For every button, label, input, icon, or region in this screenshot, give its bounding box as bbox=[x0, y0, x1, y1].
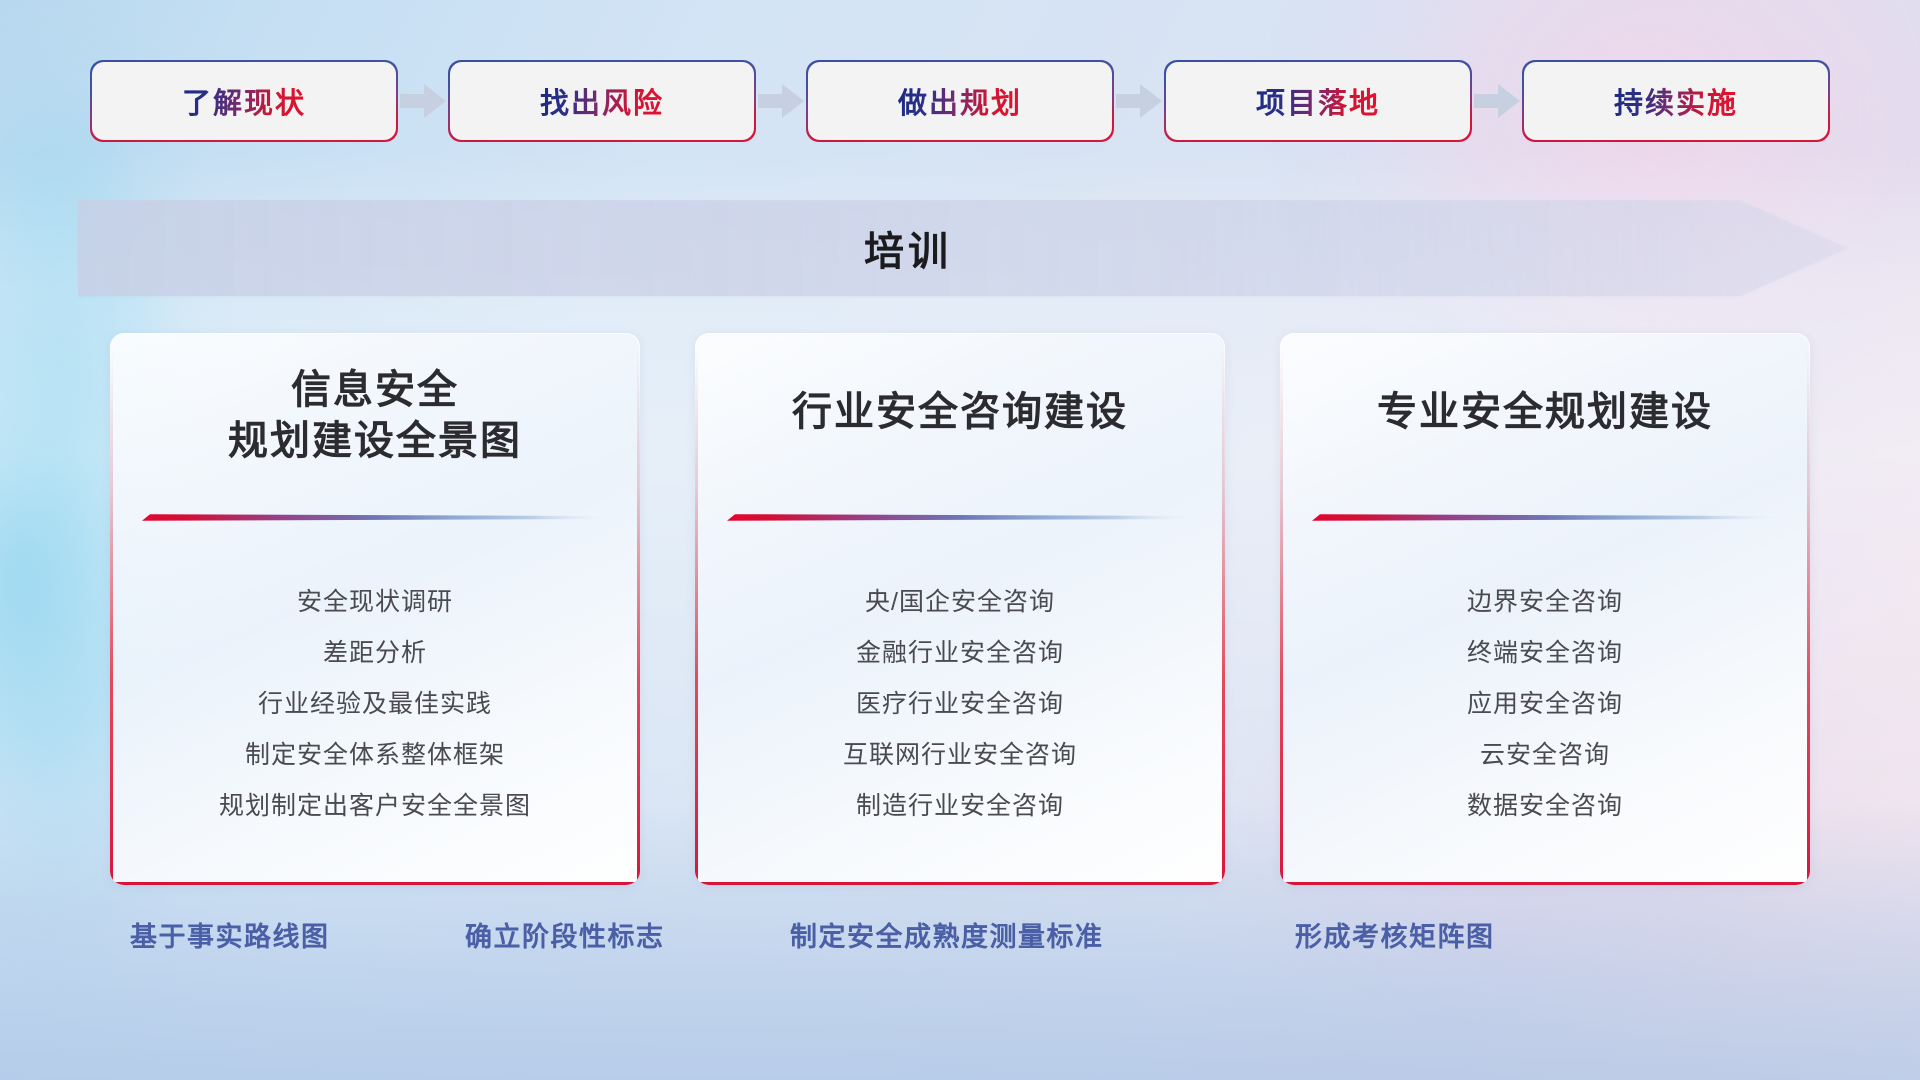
step-chip-5[interactable]: 持续实施 bbox=[1524, 62, 1828, 140]
service-card-2[interactable]: 行业安全咨询建设 bbox=[695, 333, 1225, 885]
step-arrow-icon-2 bbox=[754, 62, 808, 140]
card-list-item: 规划制定出客户安全全景图 bbox=[110, 781, 640, 832]
step-chip-4[interactable]: 项目落地 bbox=[1166, 62, 1470, 140]
card-list-item: 差距分析 bbox=[110, 628, 640, 679]
card-row: 信息安全 规划建设全景图 bbox=[110, 333, 1810, 885]
caption-row: 基于事实路线图 确立阶段性标志 制定安全成熟度测量标准 形成考核矩阵图 bbox=[0, 915, 1920, 967]
card-list-item: 终端安全咨询 bbox=[1280, 628, 1810, 679]
card-list-item: 安全现状调研 bbox=[110, 577, 640, 628]
step-arrow-icon-3 bbox=[1112, 62, 1166, 140]
card-list-item: 应用安全咨询 bbox=[1280, 679, 1810, 730]
card-title: 专业安全规划建设 bbox=[1280, 387, 1810, 438]
card-divider bbox=[727, 509, 1193, 518]
card-item-list: 安全现状调研 差距分析 行业经验及最佳实践 制定安全体系整体框架 规划制定出客户… bbox=[110, 577, 640, 832]
step-arrow-icon-4 bbox=[1470, 62, 1524, 140]
caption-2: 确立阶段性标志 bbox=[465, 915, 665, 954]
card-divider bbox=[142, 509, 608, 518]
card-divider bbox=[1312, 509, 1778, 518]
training-banner: 培训 bbox=[78, 200, 1848, 296]
card-list-item: 医疗行业安全咨询 bbox=[695, 679, 1225, 730]
card-title: 信息安全 规划建设全景图 bbox=[110, 365, 640, 467]
card-list-item: 边界安全咨询 bbox=[1280, 577, 1810, 628]
step-chip-label: 做出规划 bbox=[898, 80, 1022, 122]
service-card-3[interactable]: 专业安全规划建设 bbox=[1280, 333, 1810, 885]
card-list-item: 金融行业安全咨询 bbox=[695, 628, 1225, 679]
step-chip-2[interactable]: 找出风险 bbox=[450, 62, 754, 140]
step-chip-1[interactable]: 了解现状 bbox=[92, 62, 396, 140]
card-list-item: 制定安全体系整体框架 bbox=[110, 730, 640, 781]
card-title: 行业安全咨询建设 bbox=[695, 387, 1225, 438]
caption-3: 制定安全成熟度测量标准 bbox=[790, 915, 1104, 954]
caption-4: 形成考核矩阵图 bbox=[1295, 915, 1495, 954]
card-bottom-accent-bar bbox=[112, 882, 638, 885]
card-list-item: 制造行业安全咨询 bbox=[695, 781, 1225, 832]
process-step-row: 了解现状 找出风险 做出规划 项目落地 bbox=[0, 62, 1920, 140]
card-list-item: 数据安全咨询 bbox=[1280, 781, 1810, 832]
step-chip-label: 项目落地 bbox=[1256, 80, 1380, 122]
card-list-item: 行业经验及最佳实践 bbox=[110, 679, 640, 730]
card-bottom-accent-bar bbox=[697, 882, 1223, 885]
step-arrow-icon-1 bbox=[396, 62, 450, 140]
step-chip-label: 了解现状 bbox=[182, 80, 306, 122]
card-list-item: 央/国企安全咨询 bbox=[695, 577, 1225, 628]
caption-1: 基于事实路线图 bbox=[130, 915, 330, 954]
step-chip-label: 找出风险 bbox=[540, 80, 664, 122]
card-list-item: 互联网行业安全咨询 bbox=[695, 730, 1225, 781]
card-bottom-accent-bar bbox=[1282, 882, 1808, 885]
step-chip-label: 持续实施 bbox=[1614, 80, 1738, 122]
card-item-list: 边界安全咨询 终端安全咨询 应用安全咨询 云安全咨询 数据安全咨询 bbox=[1280, 577, 1810, 832]
card-item-list: 央/国企安全咨询 金融行业安全咨询 医疗行业安全咨询 互联网行业安全咨询 制造行… bbox=[695, 577, 1225, 832]
banner-title: 培训 bbox=[78, 200, 1738, 296]
slide-root: 了解现状 找出风险 做出规划 项目落地 bbox=[0, 0, 1920, 1080]
service-card-1[interactable]: 信息安全 规划建设全景图 bbox=[110, 333, 640, 885]
card-list-item: 云安全咨询 bbox=[1280, 730, 1810, 781]
step-chip-3[interactable]: 做出规划 bbox=[808, 62, 1112, 140]
